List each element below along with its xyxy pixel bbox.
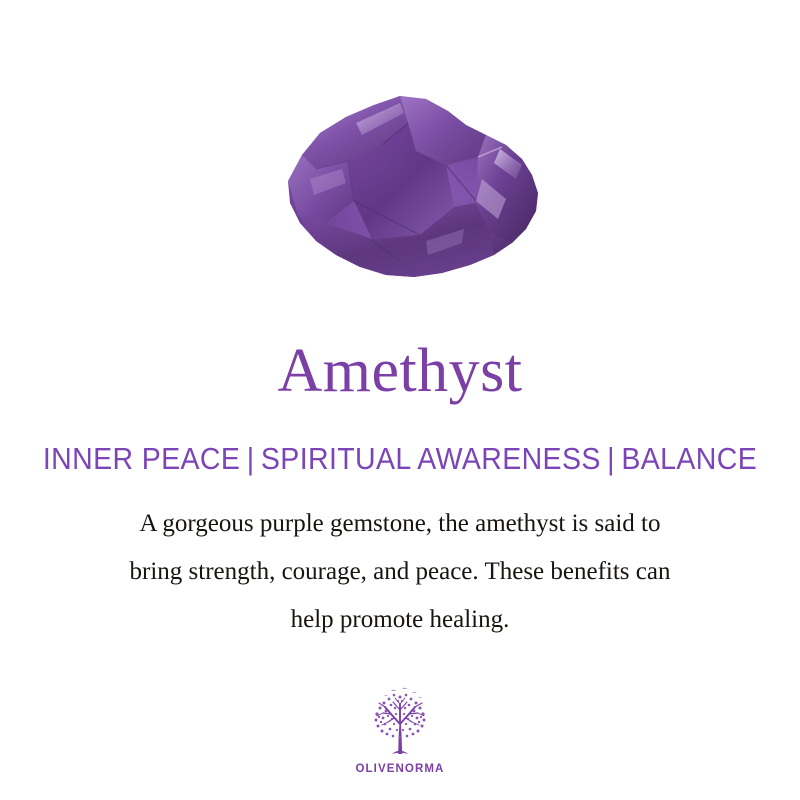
keyword-separator-2: | (601, 441, 622, 476)
tree-canopy (384, 688, 422, 698)
amethyst-stone-image (0, 78, 800, 303)
keyword-spiritual-awareness: SPIRITUAL AWARENESS (261, 441, 601, 476)
amethyst-stone-svg (250, 83, 550, 298)
product-title: Amethyst (0, 336, 800, 406)
brand-wordmark: OLIVENORMA (356, 763, 445, 775)
description-line-1: A gorgeous purple gemstone, the amethyst… (50, 500, 750, 548)
keyword-balance: BALANCE (621, 441, 757, 476)
tree-icon (361, 686, 439, 760)
keyword-inner-peace: INNER PEACE (43, 441, 240, 476)
product-keywords: INNER PEACE|SPIRITUAL AWARENESS|BALANCE (32, 440, 768, 478)
product-card: Amethyst INNER PEACE|SPIRITUAL AWARENESS… (0, 0, 800, 800)
product-description: A gorgeous purple gemstone, the amethyst… (50, 500, 750, 644)
brand-logo: OLIVENORMA (0, 686, 800, 775)
description-line-3: help promote healing. (50, 596, 750, 644)
description-line-2: bring strength, courage, and peace. Thes… (50, 548, 750, 596)
keyword-separator-1: | (240, 441, 261, 476)
